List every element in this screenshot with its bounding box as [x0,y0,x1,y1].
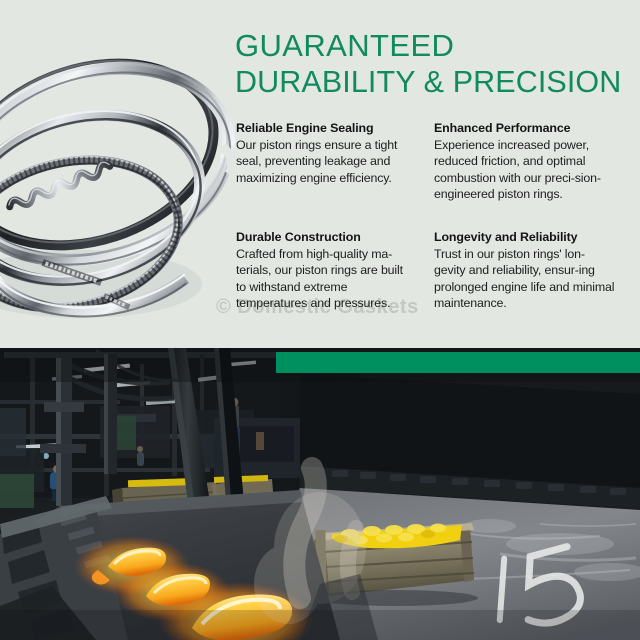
feature-item-durable-construction: Durable Construction Crafted from high-q… [236,229,434,311]
forging-plant-photo [0,348,640,640]
promo-banner: GUARANTEED DURABILITY & PRECISION © Dome… [0,0,640,640]
top-content-section: GUARANTEED DURABILITY & PRECISION © Dome… [0,0,640,348]
piston-rings-photo [0,14,240,344]
headline-line-1: GUARANTEED [235,28,635,64]
feature-item-enhanced-performance: Enhanced Performance Experience increase… [434,120,628,202]
feature-title: Longevity and Reliability [434,229,628,245]
feature-body: Experience increased power, reduced fric… [434,137,616,202]
page-title: GUARANTEED DURABILITY & PRECISION [235,28,635,100]
feature-body: Crafted from high-quality ma-terials, ou… [236,246,414,311]
feature-title: Durable Construction [236,229,434,245]
feature-title: Enhanced Performance [434,120,628,136]
feature-grid: Reliable Engine Sealing Our piston rings… [236,120,628,311]
feature-body: Trust in our piston rings' lon-gevity an… [434,246,616,311]
feature-title: Reliable Engine Sealing [236,120,434,136]
feature-item-longevity-and-reliability: Longevity and Reliability Trust in our p… [434,229,628,311]
green-accent-band [276,352,640,373]
headline-line-2: DURABILITY & PRECISION [235,64,635,100]
feature-item-reliable-engine-sealing: Reliable Engine Sealing Our piston rings… [236,120,434,202]
feature-body: Our piston rings ensure a tight seal, pr… [236,137,414,186]
